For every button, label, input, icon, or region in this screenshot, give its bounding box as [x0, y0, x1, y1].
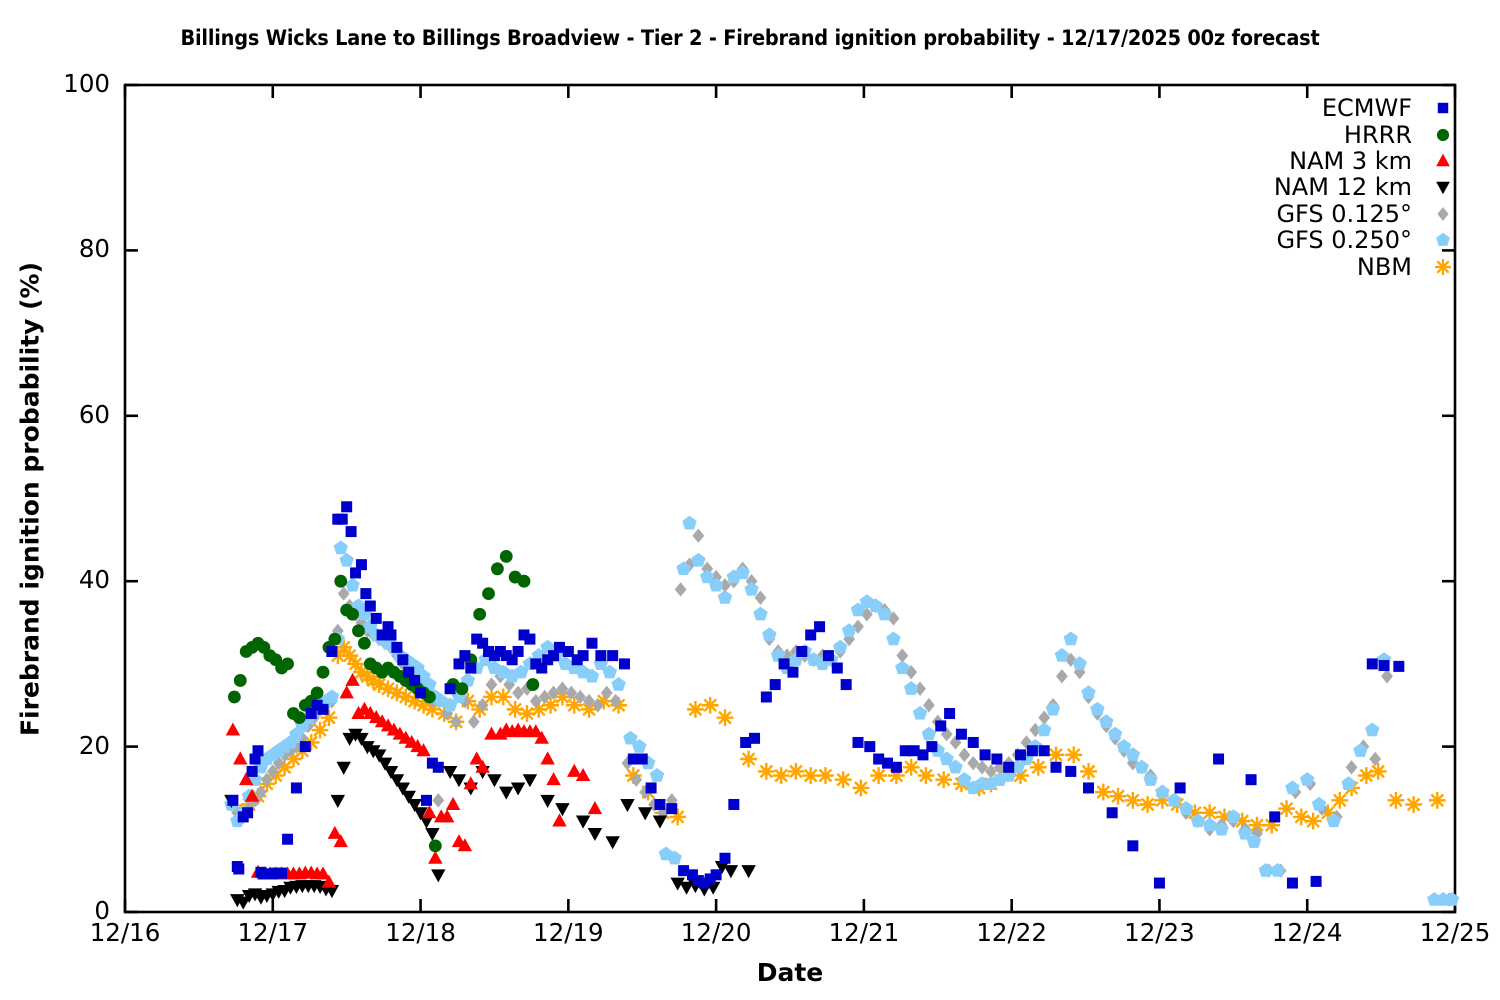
- legend-label: GFS 0.250°: [1276, 226, 1412, 254]
- legend-item-nam-12-km[interactable]: NAM 12 km: [1150, 174, 1460, 200]
- triangle-down-marker-icon: [1426, 174, 1460, 200]
- y-axis-label-wrap: Firebrand ignition probability (%): [0, 85, 60, 912]
- legend-item-gfs-0-250[interactable]: GFS 0.250°: [1150, 227, 1460, 253]
- legend-item-nbm[interactable]: NBM: [1150, 253, 1460, 279]
- x-tick-label: 12/19: [488, 918, 648, 947]
- y-axis-label: Firebrand ignition probability (%): [16, 261, 45, 735]
- x-tick-label: 12/25: [1375, 918, 1500, 947]
- x-tick-label: 12/22: [932, 918, 1092, 947]
- legend-label: ECMWF: [1322, 94, 1412, 122]
- y-tick-label: 20: [5, 731, 110, 760]
- x-tick-label: 12/23: [1079, 918, 1239, 947]
- series-gfs-0-125: [225, 529, 1454, 907]
- triangle-up-marker-icon: [1426, 148, 1460, 174]
- legend-label: GFS 0.125°: [1276, 200, 1412, 228]
- x-tick-label: 12/17: [193, 918, 353, 947]
- x-tick-label: 12/21: [784, 918, 944, 947]
- x-tick-label: 12/24: [1227, 918, 1387, 947]
- legend-label: HRRR: [1344, 121, 1412, 149]
- square-marker-icon: [1426, 95, 1460, 121]
- chart-page: Billings Wicks Lane to Billings Broadvie…: [0, 0, 1500, 1000]
- legend-item-ecmwf[interactable]: ECMWF: [1150, 95, 1460, 121]
- legend-item-gfs-0-125[interactable]: GFS 0.125°: [1150, 201, 1460, 227]
- x-tick-label: 12/20: [636, 918, 796, 947]
- x-axis-label: Date: [125, 958, 1455, 987]
- asterisk-marker-icon: [1426, 254, 1460, 280]
- circle-marker-icon: [1426, 122, 1460, 148]
- legend-label: NAM 12 km: [1274, 173, 1412, 201]
- y-tick-label: 80: [5, 234, 110, 263]
- pentagon-marker-icon: [1426, 227, 1460, 253]
- chart-legend: ECMWFHRRRNAM 3 kmNAM 12 kmGFS 0.125°GFS …: [1150, 95, 1460, 280]
- x-tick-label: 12/18: [341, 918, 501, 947]
- legend-label: NAM 3 km: [1289, 147, 1412, 175]
- legend-item-hrrr[interactable]: HRRR: [1150, 121, 1460, 147]
- diamond-marker-icon: [1426, 201, 1460, 227]
- y-tick-label: 100: [5, 69, 110, 98]
- x-tick-label: 12/16: [45, 918, 205, 947]
- y-tick-label: 40: [5, 565, 110, 594]
- series-gfs-0-250: [224, 516, 1459, 906]
- legend-item-nam-3-km[interactable]: NAM 3 km: [1150, 148, 1460, 174]
- legend-label: NBM: [1357, 253, 1412, 281]
- y-tick-label: 60: [5, 400, 110, 429]
